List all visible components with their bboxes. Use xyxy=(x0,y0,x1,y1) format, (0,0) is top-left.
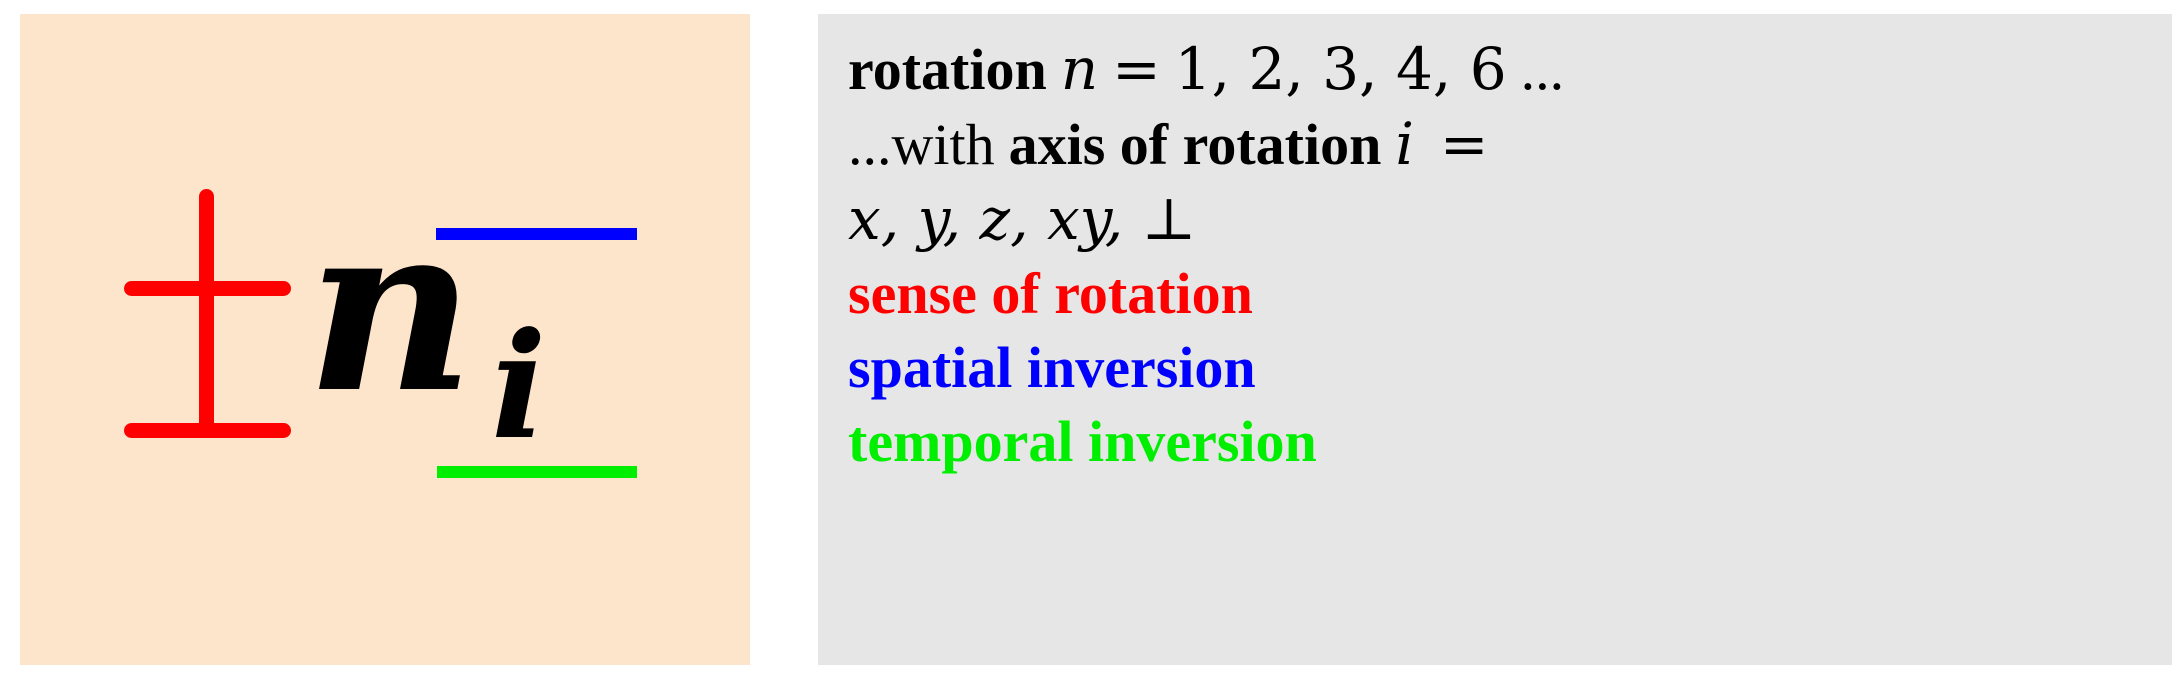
rotation-label: rotation xyxy=(848,37,1047,102)
rotation-ellipsis: ... xyxy=(1521,37,1565,102)
legend-line-axis: ...withaxis of rotationi= xyxy=(848,107,2148,182)
plus-minus-horizontal-stroke-icon xyxy=(124,281,291,296)
rotation-equals-sign: = xyxy=(1112,35,1161,103)
legend-line-list: rotationn=1, 2, 3, 4, 6... ...withaxis o… xyxy=(848,32,2148,479)
rotation-variable-n: n xyxy=(306,192,469,424)
plus-minus-baseline-stroke-icon xyxy=(124,423,291,438)
legend-line-rotation: rotationn=1, 2, 3, 4, 6... xyxy=(848,32,2148,107)
axis-values: x, y, z, xy, ⊥ xyxy=(848,185,1196,253)
axis-prefix: ...with xyxy=(848,112,995,177)
axis-subscript-i: i xyxy=(491,314,546,460)
rotation-symbol: n xyxy=(1061,35,1098,103)
plus-minus-vertical-stroke-icon xyxy=(199,189,214,437)
axis-symbol: i xyxy=(1395,110,1414,178)
legend-panel: rotationn=1, 2, 3, 4, 6... ...withaxis o… xyxy=(818,14,2172,665)
legend-line-temporal-inversion: temporal inversion xyxy=(848,405,2148,479)
legend-line-axis-values: x, y, z, xy, ⊥ xyxy=(848,182,2148,257)
plus-minus-n-subscript-i-glyph: n i xyxy=(20,14,750,665)
rotation-values: 1, 2, 3, 4, 6 xyxy=(1175,35,1507,103)
legend-line-sense-of-rotation: sense of rotation xyxy=(848,257,2148,331)
symbol-panel: n i xyxy=(20,14,750,665)
temporal-inversion-underbar-icon xyxy=(437,466,637,478)
legend-line-spatial-inversion: spatial inversion xyxy=(848,331,2148,405)
axis-equals-sign: = xyxy=(1440,110,1489,178)
n-subscript-i-cluster: n i xyxy=(300,154,600,514)
axis-of-rotation-label: axis of rotation xyxy=(1009,112,1382,177)
